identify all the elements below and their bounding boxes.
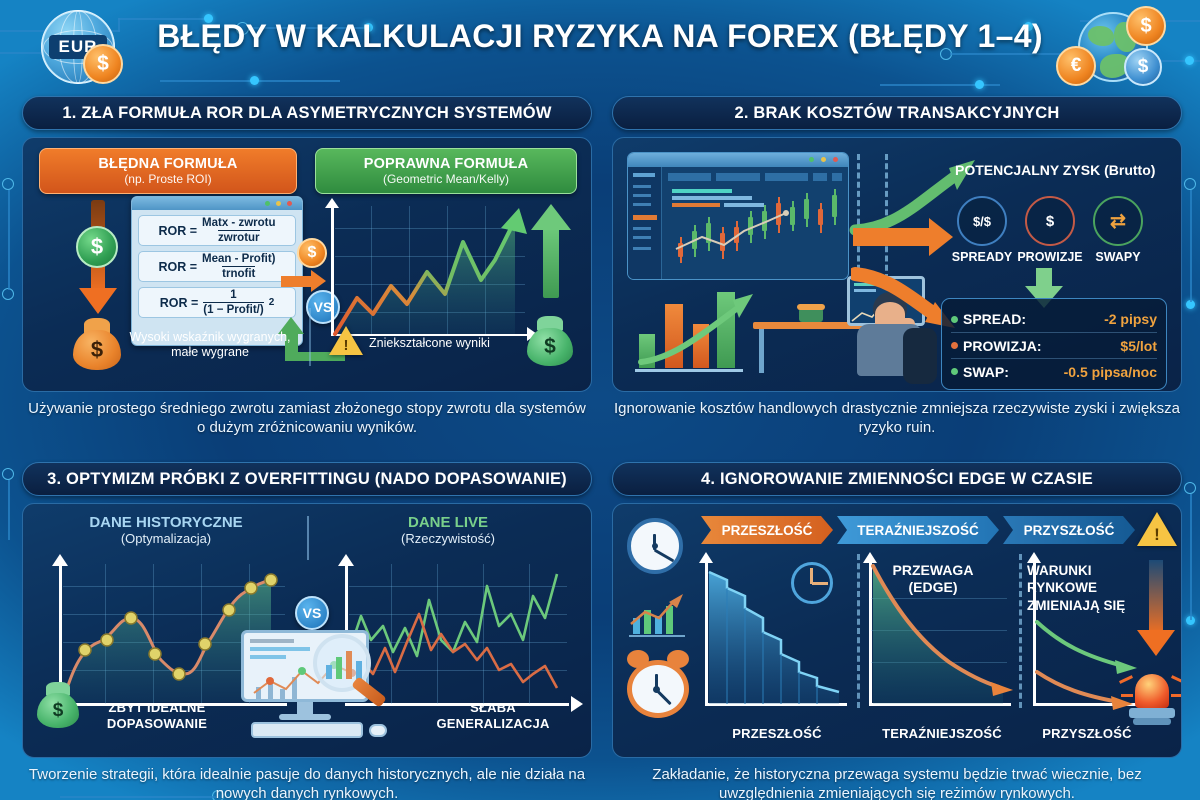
coin-symbol: €: [1071, 55, 1082, 77]
growth-bar-chart: [635, 288, 745, 374]
window-title-bar: [628, 153, 848, 167]
generalization-footer-label: SŁABA GENERALIZACJA: [423, 700, 563, 733]
pie-clock-icon: [791, 562, 833, 604]
warn-line-1: WARUNKI: [1027, 562, 1147, 579]
formula-row: ROR = 1 (1 − Profit/) 2: [138, 287, 296, 318]
money-bag-green-icon: $: [527, 316, 573, 366]
siren-icon: [1125, 670, 1179, 728]
timeline-label: PRZYSZŁOŚĆ: [1024, 523, 1115, 538]
down-arrow-orange-right: [1149, 560, 1163, 634]
vs-badge: VS: [295, 596, 329, 630]
overfit-footer-label: ZBYT IDEALNE DOPASOWANIE: [87, 700, 227, 733]
wrong-formula-header: BŁĘDNA FORMUŁA (np. Proste ROI): [39, 148, 297, 194]
equity-curve-chart: [323, 198, 535, 346]
edge-label-line2: (EDGE): [873, 579, 993, 596]
generalization-footer-text: SŁABA GENERALIZACJA: [436, 700, 549, 731]
panel-4-title: 4. IGNOROWANIE ZMIENNOŚCI EDGE W CZASIE: [612, 462, 1182, 496]
cost-breakdown-box: SPREAD: -2 pipsy PROWIZJA: $5/lot SWAP: …: [941, 298, 1167, 390]
earth-globe-icon: $ € $: [1050, 6, 1170, 90]
panel-3: 3. OPTYMIZM PRÓBKI Z OVERFITTINGU (NADO …: [22, 462, 592, 800]
dollar-coin-icon: $: [1126, 6, 1166, 46]
panel-1-caption: Używanie prostego średniego zwrotu zamia…: [22, 399, 592, 437]
mouse-icon: [369, 724, 387, 737]
cost-row: SPREAD: -2 pipsy: [951, 306, 1157, 332]
window-dot-green: [265, 201, 270, 206]
cost-value: -0.5 pipsa/noc: [1064, 364, 1157, 380]
formula-lhs: ROR =: [158, 224, 197, 238]
dollar-coin-blue-icon: $: [1124, 48, 1162, 86]
bullet-dot: [951, 316, 958, 323]
down-arrow-orange-right-head: [1137, 630, 1175, 656]
cost-name: PROWIZJA:: [963, 338, 1042, 354]
panel-4-caption: Zakładanie, że historyczna przewaga syst…: [612, 765, 1182, 800]
cost-row: SWAP: -0.5 pipsa/noc: [951, 358, 1157, 384]
formula-denominator: zwrotur: [218, 230, 260, 244]
note-bad-label: Wysoki wskaźnik wygranych, małe wygrane: [127, 330, 293, 360]
timeline-label: PRZESZŁOŚĆ: [722, 523, 813, 538]
money-bag-green-icon: $: [37, 682, 79, 728]
window-dot-yellow: [276, 201, 281, 206]
infographic-root: EUR $ BŁĘDY W KALKULACJI RYZYKA NA FOREX…: [0, 0, 1200, 800]
warning-triangle-icon: !: [1137, 512, 1177, 546]
coin-symbol: $: [1138, 56, 1149, 78]
axis-label-present: TERAŹNIEJSZOŚĆ: [867, 726, 1017, 741]
commission-icon: $: [1025, 196, 1075, 246]
header: EUR $ BŁĘDY W KALKULACJI RYZYKA NA FOREX…: [0, 0, 1200, 92]
vs-label: VS: [303, 605, 322, 621]
formula-row: ROR = Mean - Profit) trnofit: [138, 251, 296, 282]
panel-3-body: DANE HISTORYCZNE (Optymalizacja) DANE LI…: [22, 503, 592, 758]
bullet-dot: [951, 368, 958, 375]
cost-name: SPREAD:: [963, 311, 1026, 327]
timeline-chip-future[interactable]: PRZYSZŁOŚĆ: [1003, 516, 1135, 544]
gross-profit-label: POTENCJALNY ZYSK (Brutto): [955, 162, 1155, 179]
window-dot-green: [809, 157, 814, 162]
panel-1-body: BŁĘDNA FORMUŁA (np. Proste ROI) POPRAWNA…: [22, 137, 592, 392]
past-edge-chart: [699, 556, 851, 722]
warn-line-3: ZMIENIAJĄ SIĘ: [1027, 597, 1147, 614]
spread-icon: $/$: [957, 196, 1007, 246]
commission-label: PROWIZJE: [1013, 250, 1087, 264]
window-dot-red: [833, 157, 838, 162]
formula-row: ROR = Matx - zwrotu zwrotur: [138, 215, 296, 246]
panel-1-title: 1. ZŁA FORMUŁA ROR DLA ASYMETRYCZNYCH SY…: [22, 96, 592, 130]
bullet-dot: [951, 342, 958, 349]
formula-denominator: (1 − Profit/): [203, 302, 263, 316]
formula-exponent: 2: [269, 297, 275, 308]
panel-2: 2. BRAK KOSZTÓW TRANSAKCYJNYCH: [612, 96, 1182, 437]
market-conditions-warning: WARUNKI RYNKOWE ZMIENIAJĄ SIĘ: [1027, 562, 1147, 614]
coin-symbol: $: [97, 52, 109, 76]
live-data-title: DANE LIVE: [323, 514, 573, 531]
commission-glyph: $: [1046, 213, 1054, 230]
historical-data-header: DANE HISTORYCZNE (Optymalizacja): [41, 514, 291, 546]
bar-chart-icon: [627, 588, 689, 642]
correct-formula-header: POPRAWNA FORMUŁA (Geometric Mean/Kelly): [315, 148, 577, 194]
cost-row: PROWIZJA: $5/lot: [951, 332, 1157, 358]
formula-numerator: Mean - Profit): [202, 253, 275, 265]
trading-terminal-screen: [627, 152, 849, 280]
panel-4: 4. IGNOROWANIE ZMIENNOŚCI EDGE W CZASIE: [612, 462, 1182, 800]
euro-coin-icon: €: [1056, 46, 1096, 86]
wall-clock-icon: [627, 518, 683, 574]
swap-icon: ⇄: [1093, 196, 1143, 246]
down-arrow-green: [1036, 268, 1052, 288]
panel-4-body: PRZESZŁOŚĆ TERAŹNIEJSZOŚĆ PRZYSZŁOŚĆ !: [612, 503, 1182, 758]
note-good-label: Zniekształcone wyniki: [369, 336, 529, 351]
dashed-divider: [857, 554, 860, 708]
cost-value: -2 pipsy: [1104, 311, 1157, 327]
wrong-formula-title: BŁĘDNA FORMUŁA: [98, 156, 237, 172]
formula-numerator: 1: [230, 289, 236, 301]
arrow-right-orange: [281, 276, 313, 287]
correct-formula-subtitle: (Geometric Mean/Kelly): [383, 172, 509, 186]
page-title: BŁĘDY W KALKULACJI RYZYKA NA FOREX (BŁĘD…: [150, 18, 1050, 55]
swap-label: SWAPY: [1081, 250, 1155, 264]
globe-eur-icon: EUR $: [35, 8, 127, 88]
money-bag-orange-icon: $: [73, 318, 121, 370]
formula-lhs: ROR =: [160, 296, 199, 310]
candlestick-chart: [668, 187, 844, 275]
cost-value: $5/lot: [1120, 338, 1157, 354]
cost-arrow-orange: [853, 228, 933, 246]
live-data-subtitle: (Rzeczywistość): [323, 531, 573, 546]
panel-2-title: 2. BRAK KOSZTÓW TRANSAKCYJNYCH: [612, 96, 1182, 130]
historical-data-subtitle: (Optymalizacja): [41, 531, 291, 546]
window-title-bar: [132, 197, 302, 210]
equity-curve-svg: [323, 198, 535, 346]
window-dot-red: [287, 201, 292, 206]
panel-2-caption: Ignorowanie kosztów handlowych drastyczn…: [612, 399, 1182, 437]
formula-denominator: trnofit: [222, 266, 255, 280]
alarm-clock-icon: [623, 650, 695, 722]
panel-3-caption: Tworzenie strategii, która idealnie pasu…: [22, 765, 592, 800]
correct-formula-title: POPRAWNA FORMUŁA: [364, 156, 529, 172]
panel-1: 1. ZŁA FORMUŁA ROR DLA ASYMETRYCZNYCH SY…: [22, 96, 592, 437]
down-arrow-head: [79, 288, 117, 314]
formula-numerator: Matx - zwrotu: [202, 217, 275, 229]
panel-3-title: 3. OPTYMIZM PRÓBKI Z OVERFITTINGU (NADO …: [22, 462, 592, 496]
wrong-formula-subtitle: (np. Proste ROI): [124, 172, 211, 186]
timeline-label: TERAŹNIEJSZOŚĆ: [857, 523, 979, 538]
historical-data-title: DANE HISTORYCZNE: [41, 514, 291, 531]
swap-glyph: ⇄: [1110, 210, 1126, 233]
spread-label: SPREADY: [945, 250, 1019, 264]
warning-triangle-icon: !: [329, 326, 363, 355]
terminal-tabs: [668, 173, 842, 181]
overfit-footer-text: ZBYT IDEALNE DOPASOWANIE: [107, 700, 207, 731]
axis-label-past: PRZESZŁOŚĆ: [709, 726, 845, 741]
computer-monitor-icon: [241, 630, 391, 740]
cost-name: SWAP:: [963, 364, 1009, 380]
edge-label-line1: PRZEWAGA: [873, 562, 993, 579]
warn-line-2: RYNKOWE: [1027, 579, 1147, 596]
live-data-header: DANE LIVE (Rzeczywistość): [323, 514, 573, 546]
arrow-up-green-large: [543, 226, 559, 298]
window-dot-yellow: [821, 157, 826, 162]
terminal-sidebar: [628, 167, 662, 279]
timeline-chip-present[interactable]: TERAŹNIEJSZOŚĆ: [837, 516, 999, 544]
arrow-up-green-large-head: [531, 204, 571, 230]
axis-label-future: PRZYSZŁOŚĆ: [1027, 726, 1147, 741]
formula-lhs: ROR =: [158, 260, 197, 274]
spread-glyph: $/$: [973, 214, 991, 229]
edge-label: PRZEWAGA (EDGE): [873, 562, 993, 596]
panel-2-body: POTENCJALNY ZYSK (Brutto) $/$ $ ⇄ SPREAD…: [612, 137, 1182, 392]
green-dollar-coin-icon: $: [76, 226, 118, 268]
dollar-coin-icon: $: [83, 44, 123, 84]
dashed-divider: [1019, 554, 1022, 708]
timeline-chip-past[interactable]: PRZESZŁOŚĆ: [701, 516, 833, 544]
coin-symbol: $: [1140, 15, 1151, 38]
